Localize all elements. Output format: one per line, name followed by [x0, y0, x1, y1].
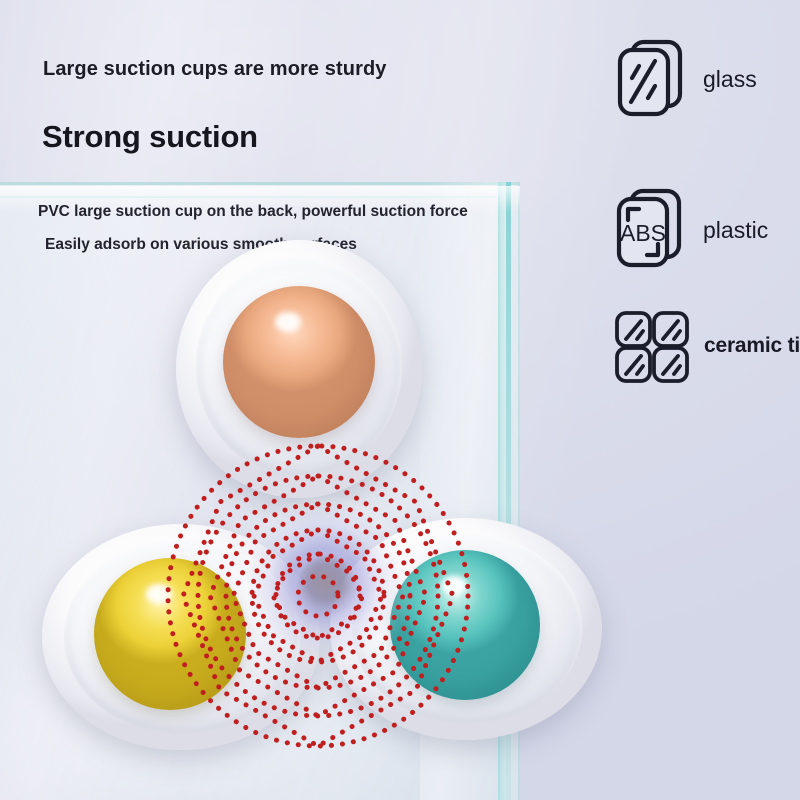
material-item-ceramic-tile[interactable]: ceramic tile — [612, 308, 800, 384]
material-label-ceramic-tile: ceramic tile — [704, 334, 800, 358]
material-item-glass[interactable]: glass — [615, 36, 757, 122]
material-item-plastic[interactable]: ABS plastic — [613, 186, 768, 274]
peach-ball — [223, 286, 375, 438]
page-title: Strong suction — [42, 119, 258, 155]
product-feature-image: Large suction cups are more sturdy Stron… — [0, 0, 800, 800]
abs-badge-text: ABS — [620, 220, 666, 246]
spin-motion-spiral — [158, 436, 478, 756]
glass-sheets-icon — [615, 36, 687, 122]
feature-line-1: PVC large suction cup on the back, power… — [38, 203, 468, 221]
subhead-text: Large suction cups are more sturdy — [43, 58, 387, 81]
material-label-plastic: plastic — [703, 217, 768, 244]
ceramic-tiles-icon — [612, 308, 690, 384]
material-label-glass: glass — [703, 66, 757, 93]
abs-sheets-icon: ABS — [613, 186, 687, 274]
suction-cup-spinner-toy — [8, 238, 628, 778]
